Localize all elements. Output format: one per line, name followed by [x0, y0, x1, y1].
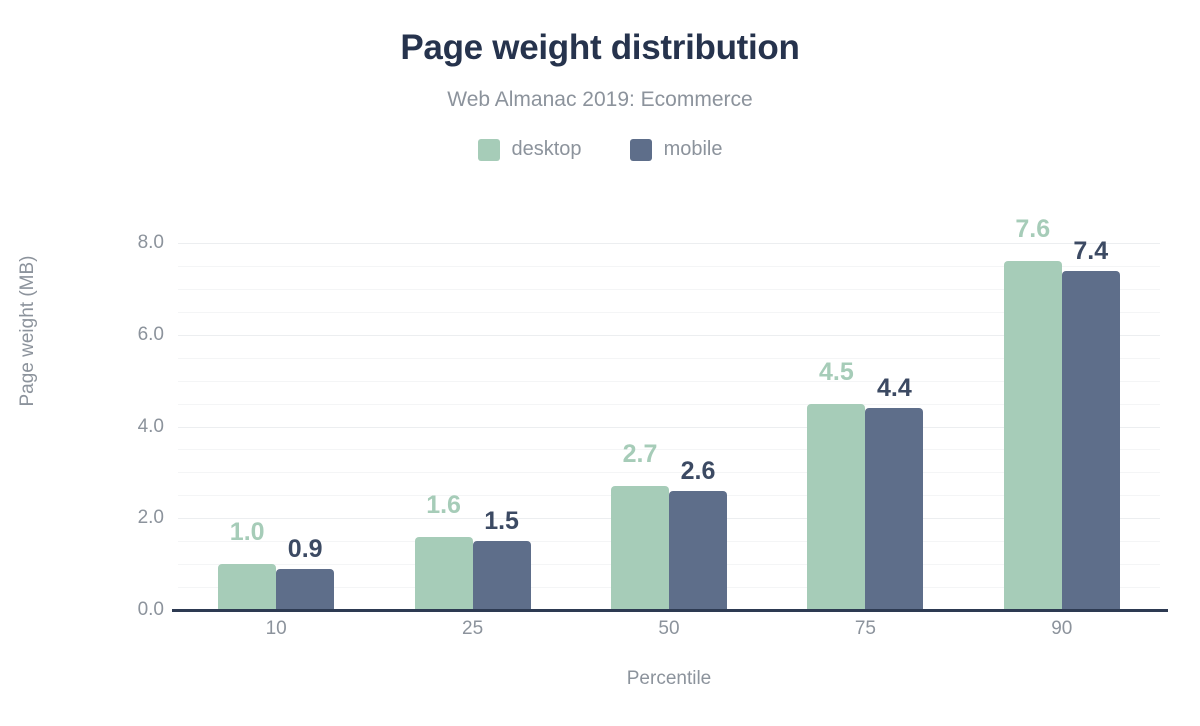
chart-title: Page weight distribution: [0, 28, 1200, 68]
bar-value-label-mobile-25: 1.5: [457, 507, 547, 536]
bar-desktop-10[interactable]: [218, 564, 276, 610]
x-axis-ticks: 1025507590: [178, 618, 1160, 648]
bar-desktop-90[interactable]: [1004, 261, 1062, 610]
legend-label-mobile: mobile: [664, 138, 723, 161]
y-tick-label: 2.0: [114, 507, 164, 529]
x-tick-label-75: 75: [805, 618, 925, 640]
x-tick-label-10: 10: [216, 618, 336, 640]
bar-value-label-mobile-10: 0.9: [260, 535, 350, 564]
bar-value-label-mobile-90: 7.4: [1046, 237, 1136, 266]
legend-label-desktop: desktop: [512, 138, 582, 161]
x-axis-baseline: [172, 609, 1168, 612]
legend-swatch-mobile-icon: [630, 139, 652, 161]
bar-mobile-90[interactable]: [1062, 271, 1120, 610]
y-tick-label: 0.0: [114, 599, 164, 621]
legend-swatch-desktop-icon: [478, 139, 500, 161]
y-axis-title: Page weight (MB): [17, 151, 39, 511]
plot-area: 1.00.91.61.52.72.64.54.47.67.4: [178, 243, 1160, 610]
legend-item-desktop[interactable]: desktop: [478, 138, 582, 161]
chart-subtitle: Web Almanac 2019: Ecommerce: [0, 88, 1200, 112]
legend-item-mobile[interactable]: mobile: [630, 138, 723, 161]
bar-desktop-50[interactable]: [611, 486, 669, 610]
bar-value-label-mobile-50: 2.6: [653, 457, 743, 486]
y-axis-ticks: 0.02.04.06.08.0: [112, 243, 164, 610]
bar-mobile-50[interactable]: [669, 491, 727, 610]
chart-legend: desktop mobile: [0, 138, 1200, 161]
x-axis-title: Percentile: [178, 668, 1160, 690]
bar-mobile-25[interactable]: [473, 541, 531, 610]
bar-desktop-75[interactable]: [807, 404, 865, 610]
x-tick-label-90: 90: [1002, 618, 1122, 640]
chart-container: Page weight distribution Web Almanac 201…: [0, 0, 1200, 726]
bar-desktop-25[interactable]: [415, 537, 473, 610]
y-tick-label: 6.0: [114, 324, 164, 346]
bar-mobile-10[interactable]: [276, 569, 334, 610]
bar-value-label-mobile-75: 4.4: [849, 374, 939, 403]
y-tick-label: 8.0: [114, 232, 164, 254]
x-tick-label-50: 50: [609, 618, 729, 640]
x-tick-label-25: 25: [413, 618, 533, 640]
bars-layer: 1.00.91.61.52.72.64.54.47.67.4: [178, 243, 1160, 610]
bar-mobile-75[interactable]: [865, 408, 923, 610]
y-tick-label: 4.0: [114, 416, 164, 438]
